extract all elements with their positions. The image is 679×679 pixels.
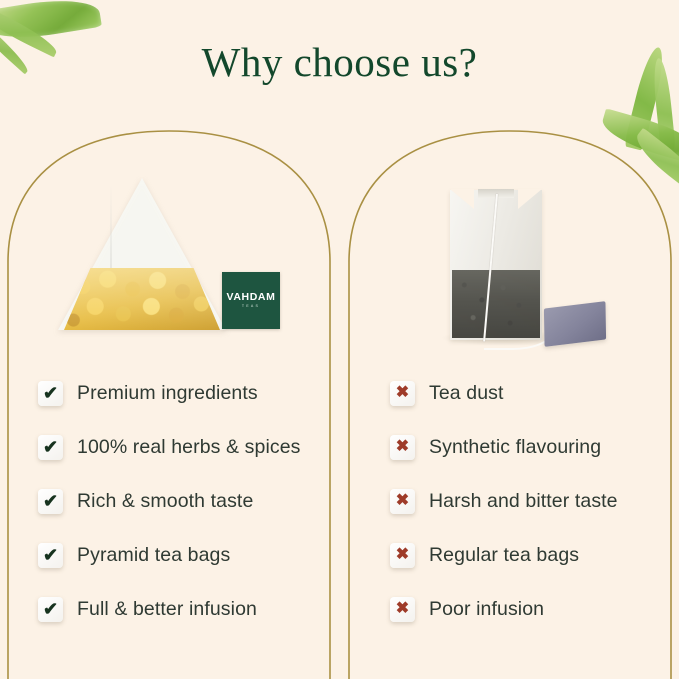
list-item: ✔ Rich & smooth taste (38, 474, 338, 528)
list-item-label: 100% real herbs & spices (77, 436, 301, 459)
leaf-icon-top-right-blade-2 (630, 128, 679, 195)
check-icon: ✔ (38, 597, 63, 622)
cross-icon: ✖ (390, 489, 415, 514)
list-item-label: Tea dust (429, 382, 504, 405)
tea-bag-paper-tag (544, 301, 606, 347)
leaf-icon-top-right-blade (598, 108, 679, 166)
cross-icon: ✖ (390, 435, 415, 460)
pros-list: ✔ Premium ingredients ✔ 100% real herbs … (38, 366, 338, 636)
list-item: ✔ Full & better infusion (38, 582, 338, 636)
vahdam-subtext: TEAS (242, 305, 260, 309)
list-item-label: Premium ingredients (77, 382, 258, 405)
check-icon: ✔ (38, 543, 63, 568)
list-item: ✔ 100% real herbs & spices (38, 420, 338, 474)
list-item-label: Regular tea bags (429, 544, 579, 567)
check-icon: ✔ (38, 489, 63, 514)
tea-bag-crimp-left (450, 189, 474, 209)
list-item-label: Rich & smooth taste (77, 490, 253, 513)
vahdam-brand-tag: VAHDAM TEAS (222, 272, 280, 329)
list-item: ✖ Harsh and bitter taste (390, 474, 670, 528)
list-item-label: Harsh and bitter taste (429, 490, 618, 513)
list-item-label: Synthetic flavouring (429, 436, 601, 459)
check-icon: ✔ (38, 435, 63, 460)
tea-bag-crimp-right (518, 189, 542, 209)
list-item: ✖ Tea dust (390, 366, 670, 420)
list-item: ✖ Poor infusion (390, 582, 670, 636)
list-item-label: Pyramid tea bags (77, 544, 230, 567)
cross-icon: ✖ (390, 381, 415, 406)
promo-graphic: Why choose us? VAHDAM TEAS ✔ Premium ing… (0, 0, 679, 679)
check-icon: ✔ (38, 381, 63, 406)
list-item: ✖ Regular tea bags (390, 528, 670, 582)
list-item: ✔ Premium ingredients (38, 366, 338, 420)
page-title: Why choose us? (0, 38, 679, 86)
cross-icon: ✖ (390, 543, 415, 568)
cons-list: ✖ Tea dust ✖ Synthetic flavouring ✖ Hars… (390, 366, 670, 636)
list-item-label: Poor infusion (429, 598, 544, 621)
pyramid-herb-veil (64, 268, 220, 330)
list-item: ✖ Synthetic flavouring (390, 420, 670, 474)
list-item-label: Full & better infusion (77, 598, 257, 621)
cross-icon: ✖ (390, 597, 415, 622)
vahdam-wordmark: VAHDAM (227, 292, 276, 303)
pyramid-tea-bag-photo (58, 178, 226, 330)
list-item: ✔ Pyramid tea bags (38, 528, 338, 582)
